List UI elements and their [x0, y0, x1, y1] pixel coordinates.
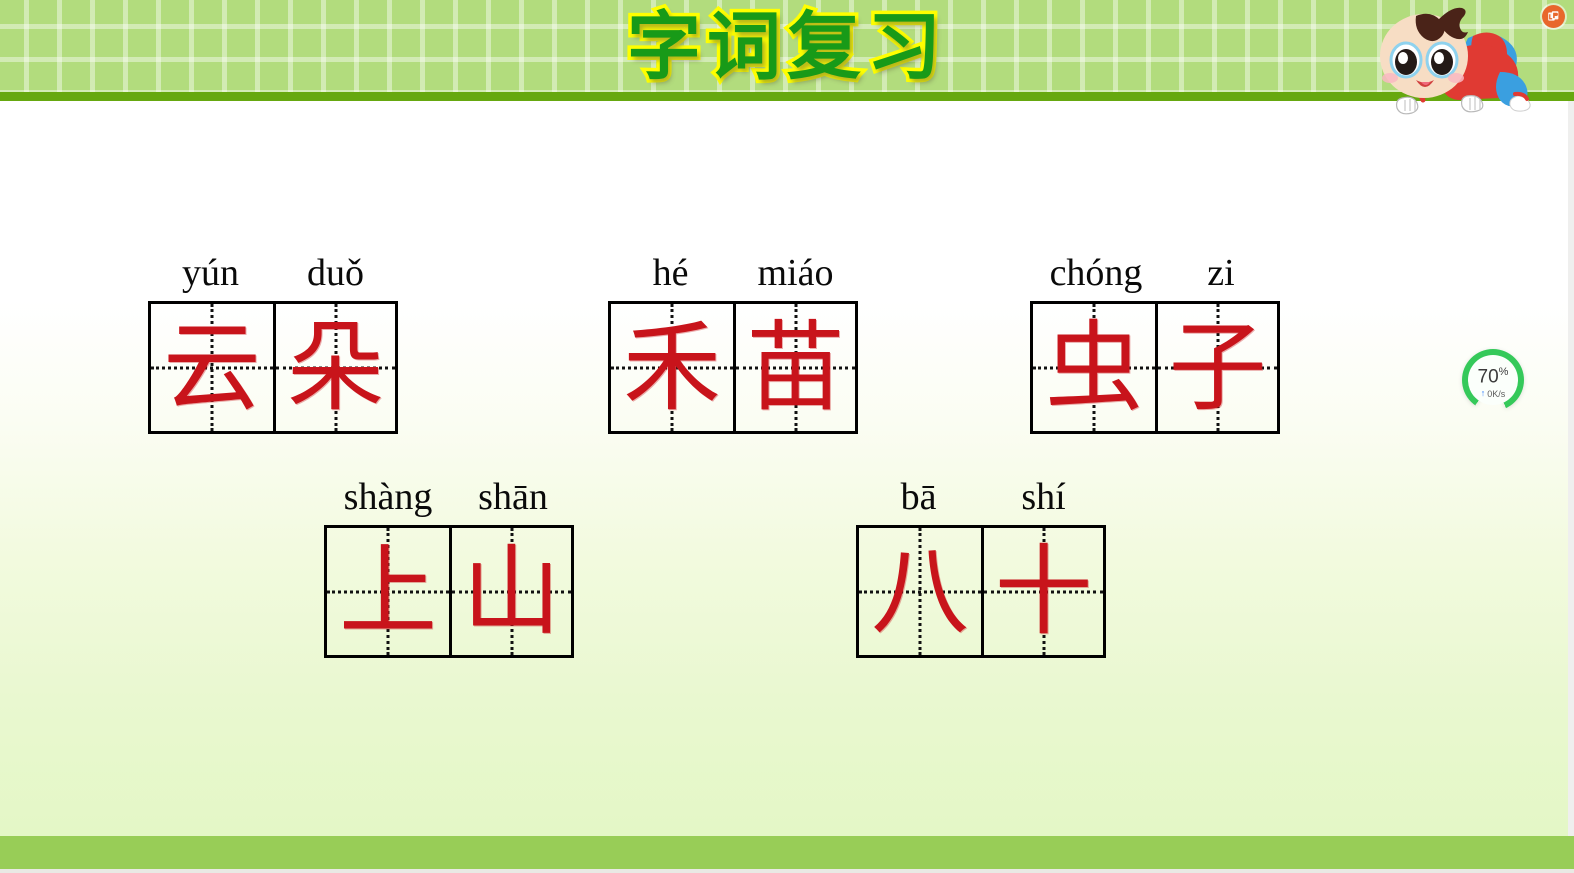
hanzi-character: 八: [871, 541, 969, 643]
pinyin-syllable: shān: [452, 474, 574, 520]
pinyin-syllable: duǒ: [273, 250, 398, 296]
slide-canvas: 字词复习: [0, 0, 1574, 873]
pinyin-syllable: zi: [1162, 250, 1280, 296]
progress-ring-center: 70% ↑ 0K/s: [1468, 355, 1518, 405]
character-cell: 子: [1155, 304, 1277, 431]
pinyin-row: bā shí: [856, 472, 1106, 520]
hanzi-character: 禾: [623, 317, 721, 419]
pinyin-syllable: shàng: [324, 474, 452, 520]
pinyin-row: yún duǒ: [148, 248, 398, 296]
pinyin-syllable: yún: [148, 250, 273, 296]
slide-footer-bar: [0, 836, 1574, 869]
pinyin-syllable: hé: [608, 250, 733, 296]
slide-bottom-edge: [0, 869, 1574, 873]
hanzi-character: 苗: [746, 317, 844, 419]
pinyin-syllable: chóng: [1030, 250, 1162, 296]
character-cell: 朵: [273, 304, 395, 431]
character-cell: 十: [981, 528, 1103, 655]
character-cell: 上: [327, 528, 449, 655]
word-group-hemiao: hé miáo 禾 苗: [608, 248, 858, 434]
presentation-badge-icon[interactable]: [1542, 5, 1565, 28]
character-grid: 虫 子: [1030, 301, 1280, 434]
pinyin-row: hé miáo: [608, 248, 858, 296]
progress-percent: 70%: [1478, 363, 1509, 386]
right-edge-strip: [1568, 101, 1574, 836]
progress-percent-value: 70: [1478, 367, 1499, 388]
character-grid: 云 朵: [148, 301, 398, 434]
hanzi-character: 上: [339, 541, 437, 643]
pinyin-row: chóng zi: [1030, 248, 1280, 296]
page-title: 字词复习: [0, 4, 1574, 90]
network-rate-value: 0K/s: [1487, 389, 1505, 399]
hanzi-character: 云: [163, 317, 261, 419]
hanzi-character: 子: [1168, 317, 1266, 419]
hanzi-character: 十: [994, 541, 1092, 643]
word-group-bashi: bā shí 八 十: [856, 472, 1106, 658]
pinyin-syllable: shí: [981, 474, 1106, 520]
progress-percent-unit: %: [1499, 366, 1509, 378]
network-rate: ↑ 0K/s: [1481, 389, 1506, 399]
character-cell: 苗: [733, 304, 855, 431]
word-group-chongzi: chóng zi 虫 子: [1030, 248, 1280, 434]
network-speed-widget[interactable]: 70% ↑ 0K/s: [1462, 349, 1524, 411]
character-cell: 虫: [1033, 304, 1155, 431]
header-divider-rule: [0, 92, 1574, 101]
word-group-yunduo: yún duǒ 云 朵: [148, 248, 398, 434]
character-grid: 上 山: [324, 525, 574, 658]
upload-arrow-icon: ↑: [1481, 389, 1486, 398]
pinyin-syllable: miáo: [733, 250, 858, 296]
crawling-baby-mascot: [1372, 0, 1548, 116]
character-grid: 禾 苗: [608, 301, 858, 434]
slide-header: 字词复习: [0, 0, 1574, 92]
hanzi-character: 山: [462, 541, 560, 643]
pinyin-row: shàng shān: [324, 472, 574, 520]
word-group-shangshan: shàng shān 上 山: [324, 472, 574, 658]
hanzi-character: 朵: [286, 317, 384, 419]
character-cell: 禾: [611, 304, 733, 431]
character-cell: 云: [151, 304, 273, 431]
hanzi-character: 虫: [1045, 317, 1143, 419]
character-cell: 山: [449, 528, 571, 655]
pinyin-syllable: bā: [856, 474, 981, 520]
character-grid: 八 十: [856, 525, 1106, 658]
character-cell: 八: [859, 528, 981, 655]
